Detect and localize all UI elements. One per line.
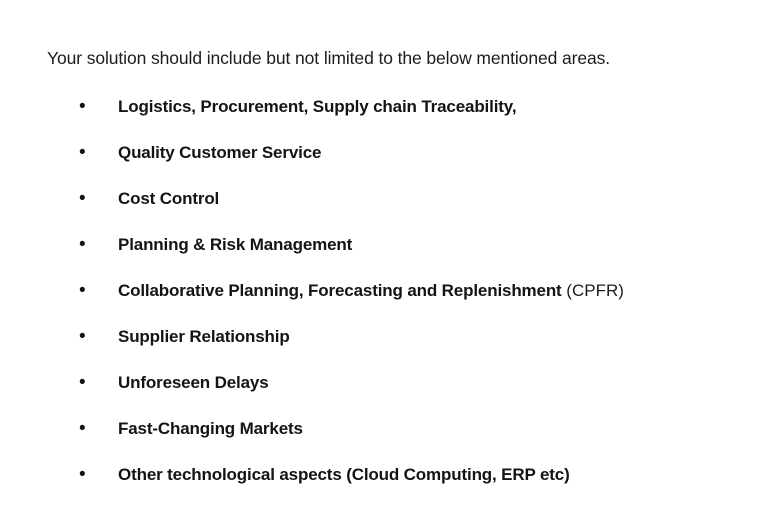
list-item: • Quality Customer Service bbox=[0, 130, 776, 176]
list-item-main: Supplier Relationship bbox=[118, 327, 290, 346]
list-item-text: Other technological aspects (Cloud Compu… bbox=[118, 465, 570, 484]
list-item-suffix: (CPFR) bbox=[562, 281, 624, 300]
intro-paragraph: Your solution should include but not lim… bbox=[47, 48, 610, 69]
list-item-main: Planning & Risk Management bbox=[118, 235, 352, 254]
list-item-main: Other technological aspects (Cloud Compu… bbox=[118, 465, 570, 484]
list-item-text: Fast-Changing Markets bbox=[118, 419, 303, 438]
list-item-text: Cost Control bbox=[118, 189, 219, 208]
document-page: Your solution should include but not lim… bbox=[0, 0, 776, 526]
list-item: • Cost Control bbox=[0, 176, 776, 222]
requirements-bullet-list: • Logistics, Procurement, Supply chain T… bbox=[0, 84, 776, 498]
list-item-main: Collaborative Planning, Forecasting and … bbox=[118, 281, 562, 300]
list-item-text: Supplier Relationship bbox=[118, 327, 290, 346]
bullet-icon: • bbox=[79, 314, 89, 360]
bullet-icon: • bbox=[79, 84, 89, 130]
bullet-icon: • bbox=[79, 406, 89, 452]
list-item-main: Cost Control bbox=[118, 189, 219, 208]
list-item-main: Unforeseen Delays bbox=[118, 373, 269, 392]
bullet-icon: • bbox=[79, 176, 89, 222]
list-item-text: Planning & Risk Management bbox=[118, 235, 352, 254]
list-item: • Planning & Risk Management bbox=[0, 222, 776, 268]
list-item: • Unforeseen Delays bbox=[0, 360, 776, 406]
bullet-icon: • bbox=[79, 222, 89, 268]
list-item: • Logistics, Procurement, Supply chain T… bbox=[0, 84, 776, 130]
bullet-icon: • bbox=[79, 360, 89, 406]
bullet-icon: • bbox=[79, 452, 89, 498]
list-item-main: Fast-Changing Markets bbox=[118, 419, 303, 438]
list-item-main: Quality Customer Service bbox=[118, 143, 321, 162]
list-item: • Supplier Relationship bbox=[0, 314, 776, 360]
list-item-text: Logistics, Procurement, Supply chain Tra… bbox=[118, 97, 516, 116]
bullet-icon: • bbox=[79, 130, 89, 176]
list-item-main: Logistics, Procurement, Supply chain Tra… bbox=[118, 97, 516, 116]
list-item: • Other technological aspects (Cloud Com… bbox=[0, 452, 776, 498]
list-item: • Fast-Changing Markets bbox=[0, 406, 776, 452]
list-item-text: Quality Customer Service bbox=[118, 143, 321, 162]
list-item-text: Unforeseen Delays bbox=[118, 373, 269, 392]
list-item-text: Collaborative Planning, Forecasting and … bbox=[118, 281, 624, 300]
bullet-icon: • bbox=[79, 268, 89, 314]
list-item: • Collaborative Planning, Forecasting an… bbox=[0, 268, 776, 314]
